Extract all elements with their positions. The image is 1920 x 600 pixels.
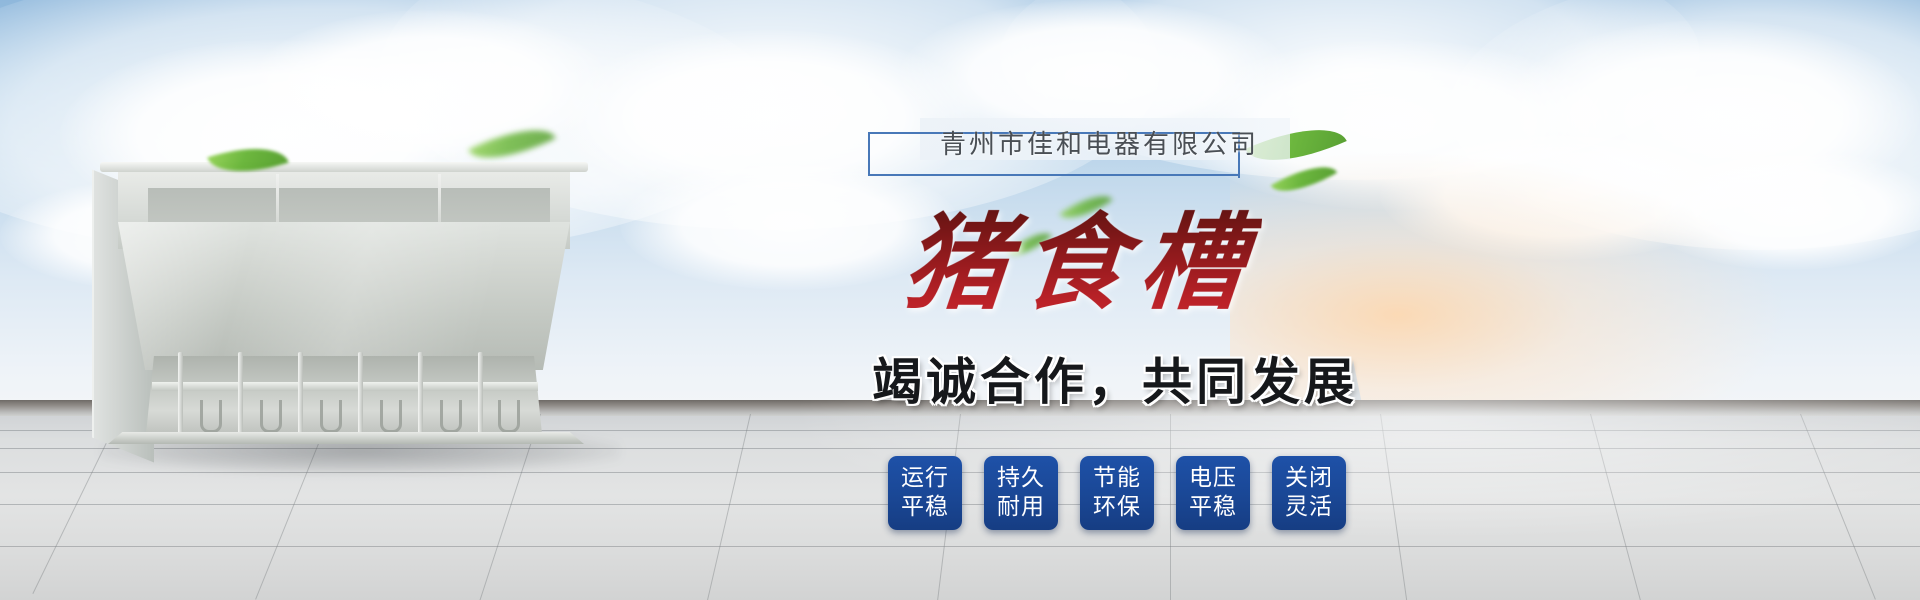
feature-badge-line2: 平稳	[901, 493, 949, 522]
feature-badge[interactable]: 电压 平稳	[1176, 456, 1250, 530]
feature-badge-line2: 耐用	[997, 493, 1045, 522]
feature-badge-line1: 电压	[1189, 464, 1237, 493]
feature-badge[interactable]: 节能 环保	[1080, 456, 1154, 530]
headline-block: 青州市佳和电器有限公司 猪食槽 竭诚合作，共同发展 运行 平稳 持久 耐用 节能…	[0, 0, 1920, 600]
main-title: 猪食槽	[898, 178, 1265, 329]
feature-badge[interactable]: 关闭 灵活	[1272, 456, 1346, 530]
feature-badge[interactable]: 持久 耐用	[984, 456, 1058, 530]
company-name: 青州市佳和电器有限公司	[940, 124, 1259, 161]
promotional-banner: 青州市佳和电器有限公司 猪食槽 竭诚合作，共同发展 运行 平稳 持久 耐用 节能…	[0, 0, 1920, 600]
feature-badge-list: 运行 平稳 持久 耐用 节能 环保 电压 平稳 关闭 灵活	[888, 456, 1346, 530]
feature-badge-line2: 灵活	[1285, 493, 1333, 522]
feature-badge-line1: 关闭	[1285, 464, 1333, 493]
feature-badge-line1: 节能	[1093, 464, 1141, 493]
subtitle-slogan: 竭诚合作，共同发展	[872, 342, 1358, 414]
feature-badge[interactable]: 运行 平稳	[888, 456, 962, 530]
feature-badge-line1: 运行	[901, 464, 949, 493]
feature-badge-line1: 持久	[997, 464, 1045, 493]
feature-badge-line2: 环保	[1093, 493, 1141, 522]
feature-badge-line2: 平稳	[1189, 493, 1237, 522]
